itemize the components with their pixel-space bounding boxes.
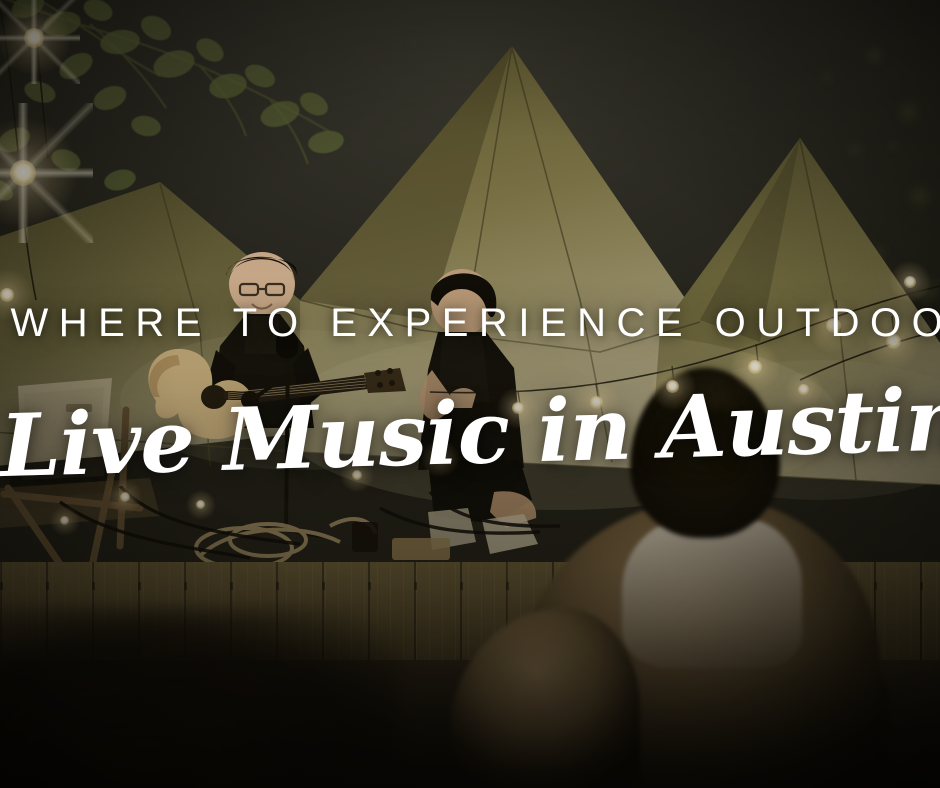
title-block: WHERE TO EXPERIENCE OUTDOOR Live Music i… <box>0 300 940 346</box>
headline-text: WHERE TO EXPERIENCE OUTDOOR <box>0 300 940 346</box>
poster: WHERE TO EXPERIENCE OUTDOOR Live Music i… <box>0 0 940 788</box>
